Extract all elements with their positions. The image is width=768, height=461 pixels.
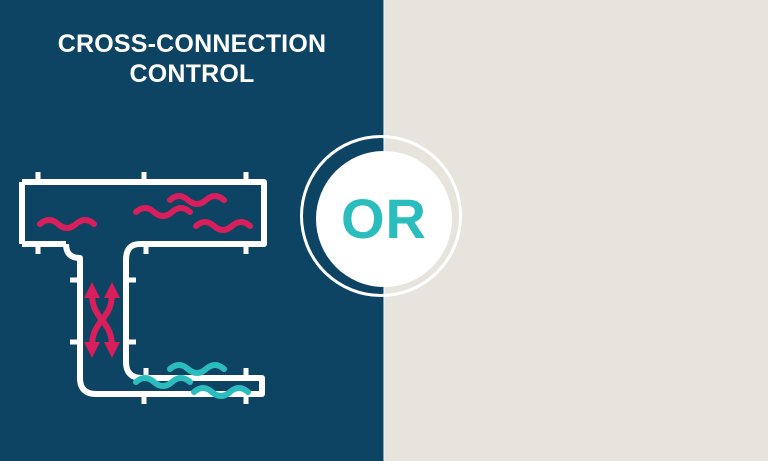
right-vertical-pipe (126, 244, 256, 378)
left-title: CROSS-CONNECTION CONTROL (0, 30, 384, 89)
wave (40, 220, 94, 228)
arrowhead-down-left (84, 342, 100, 358)
cross-flow-arrows (92, 294, 112, 346)
wave (196, 222, 250, 230)
wave (170, 196, 224, 204)
arrowhead-up-right (104, 282, 120, 298)
left-vertical-pipe (66, 244, 256, 394)
or-badge-disc: OR (316, 151, 452, 287)
lower-pipe-right-cap (256, 378, 262, 394)
upper-pipe-waves (40, 196, 250, 230)
arrowhead-down-right (104, 342, 120, 358)
upper-pipe-top (22, 182, 264, 244)
cross-connection-illustration (18, 170, 280, 420)
wave (136, 208, 190, 216)
arrowhead-up-left (84, 282, 100, 298)
or-label: OR (341, 191, 427, 247)
wave (170, 365, 224, 373)
or-badge: OR (300, 135, 468, 303)
comparison-graphic: CROSS-CONNECTION CONTROL (0, 0, 768, 461)
